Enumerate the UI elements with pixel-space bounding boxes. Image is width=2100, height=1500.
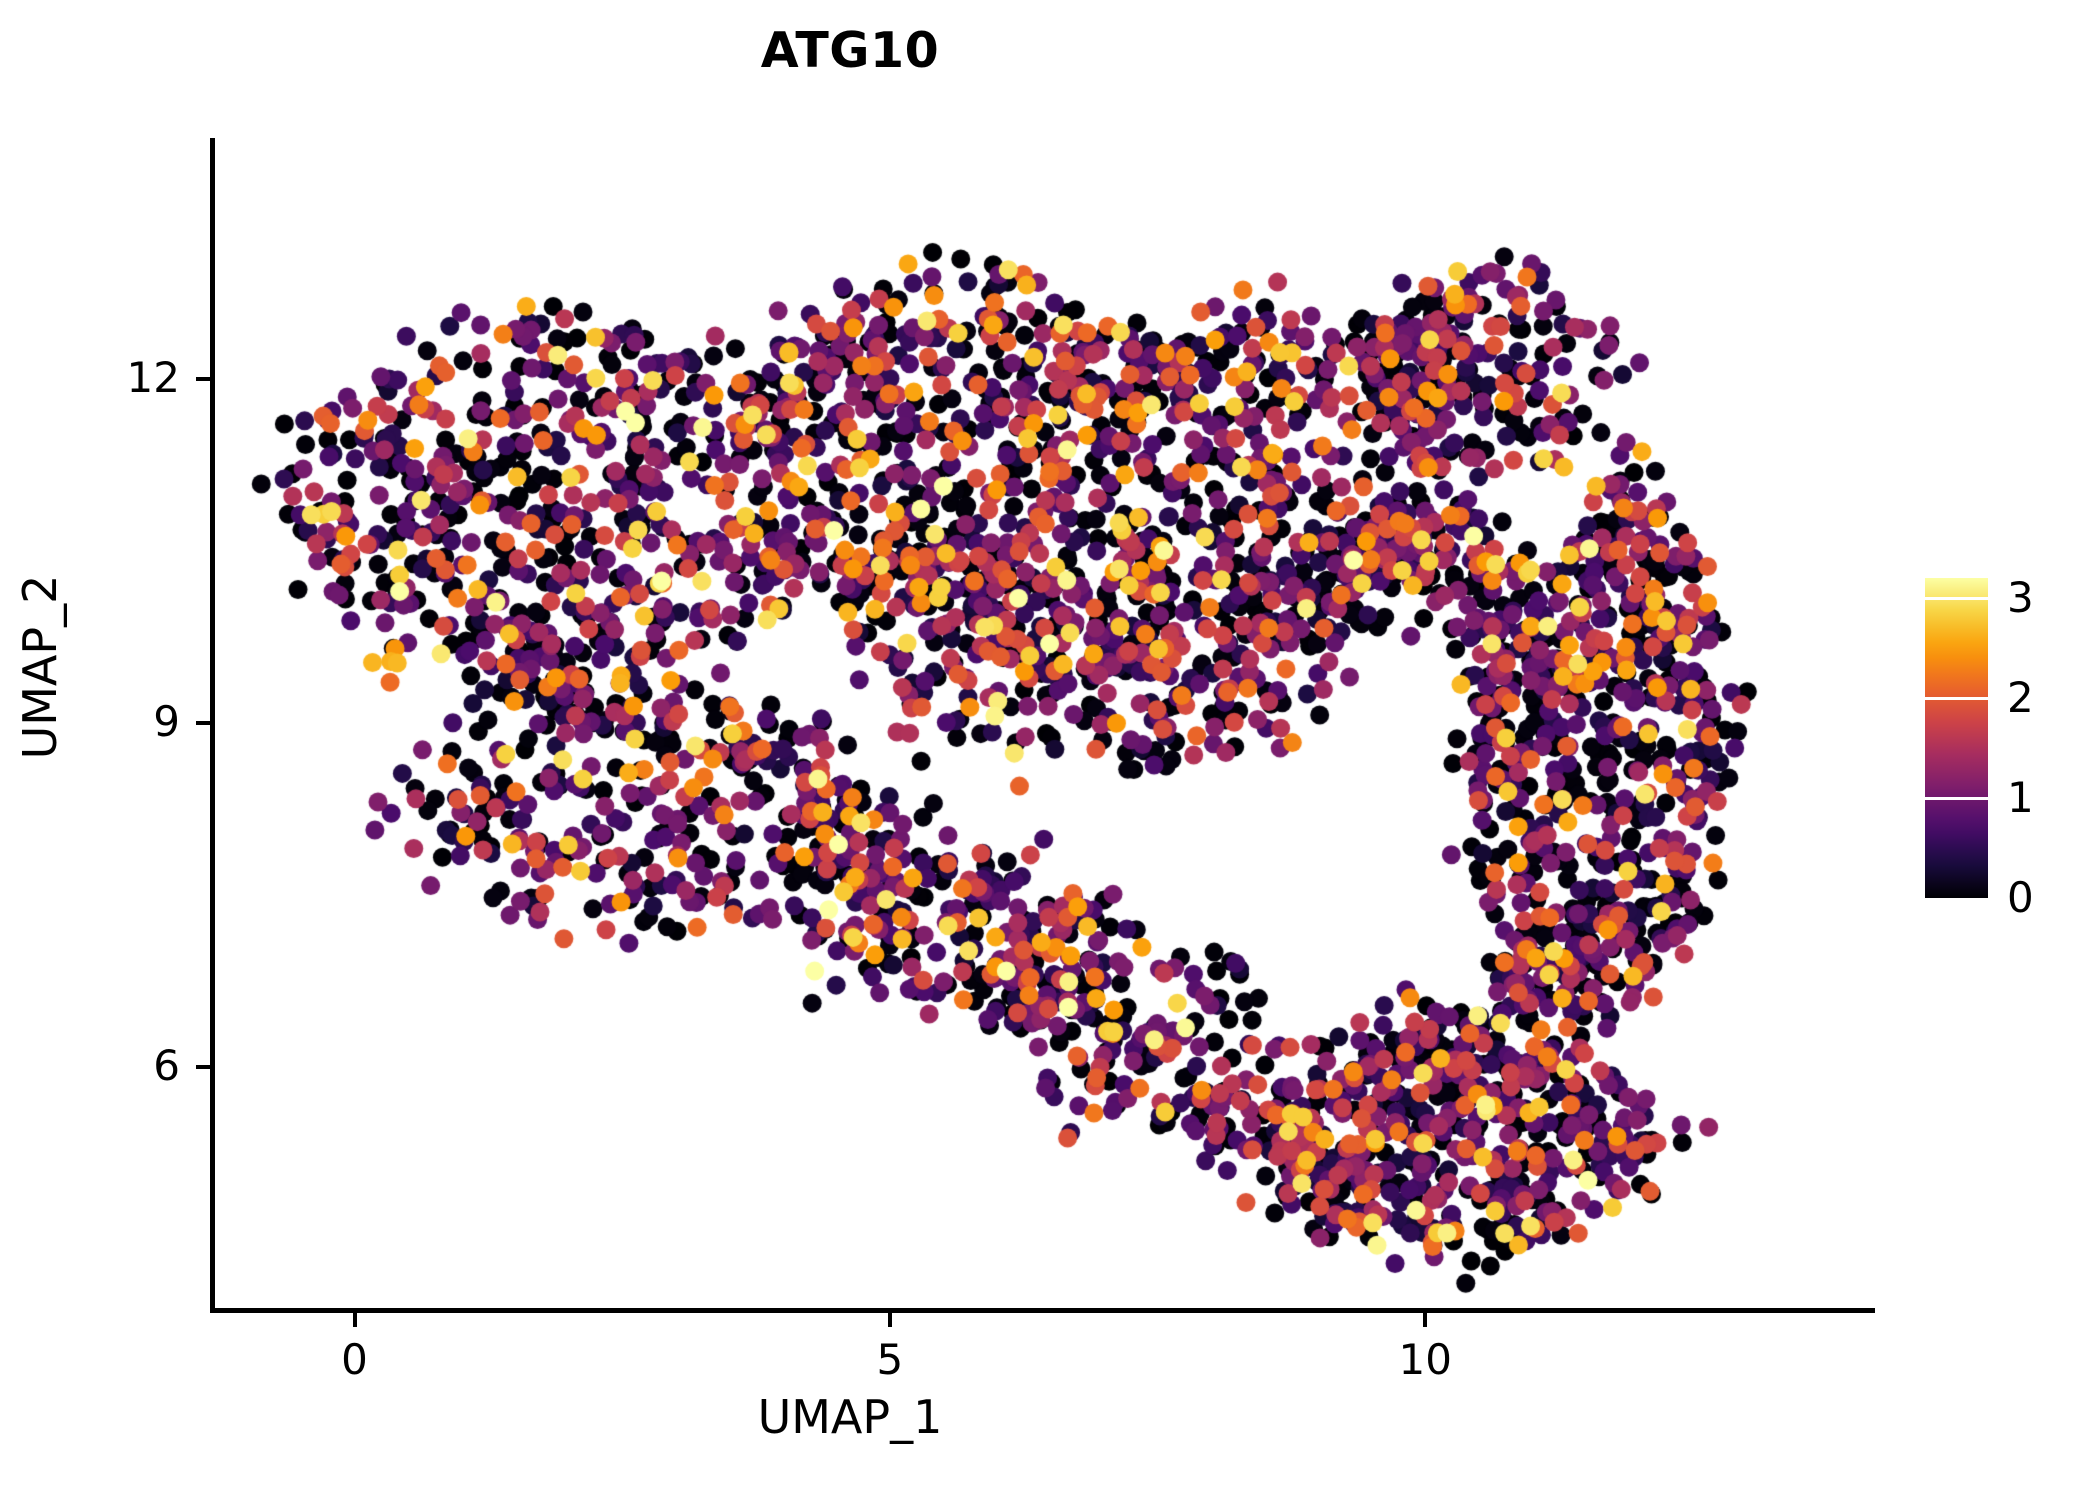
x-tick-mark: [353, 1313, 357, 1327]
scatter-points-layer: [210, 138, 1875, 1313]
y-tick-mark: [196, 1065, 210, 1069]
x-tick-label: 10: [1325, 1339, 1525, 1381]
x-tick-mark: [1423, 1313, 1427, 1327]
colorbar-tick-label: 2: [2007, 677, 2034, 719]
colorbar-tick-label: 0: [2007, 877, 2034, 919]
x-tick-label: 5: [790, 1339, 990, 1381]
y-tick-mark: [196, 377, 210, 381]
y-axis-label: UMAP_2: [13, 387, 67, 947]
x-tick-label: 0: [255, 1339, 455, 1381]
colorbar-tick-mark: [1925, 797, 1988, 800]
colorbar-tick-mark: [1925, 597, 1988, 600]
umap-feature-plot: ATG10 1296 0510 UMAP_1 UMAP_2 3210: [0, 0, 2100, 1500]
x-axis-spine: [210, 1308, 1875, 1313]
y-axis-spine: [210, 138, 215, 1313]
x-axis-label: UMAP_1: [210, 1390, 1490, 1444]
colorbar-gradient: [1925, 578, 1988, 898]
colorbar-tick-mark: [1925, 897, 1988, 900]
colorbar-tick-label: 1: [2007, 777, 2034, 819]
colorbar: 3210: [1925, 578, 2100, 898]
x-tick-mark: [888, 1313, 892, 1327]
page-title: ATG10: [0, 22, 1700, 79]
colorbar-tick-mark: [1925, 697, 1988, 700]
plot-axes: [210, 138, 1875, 1313]
colorbar-tick-label: 3: [2007, 577, 2034, 619]
y-tick-mark: [196, 721, 210, 725]
y-tick-label: 6: [0, 1045, 180, 1087]
